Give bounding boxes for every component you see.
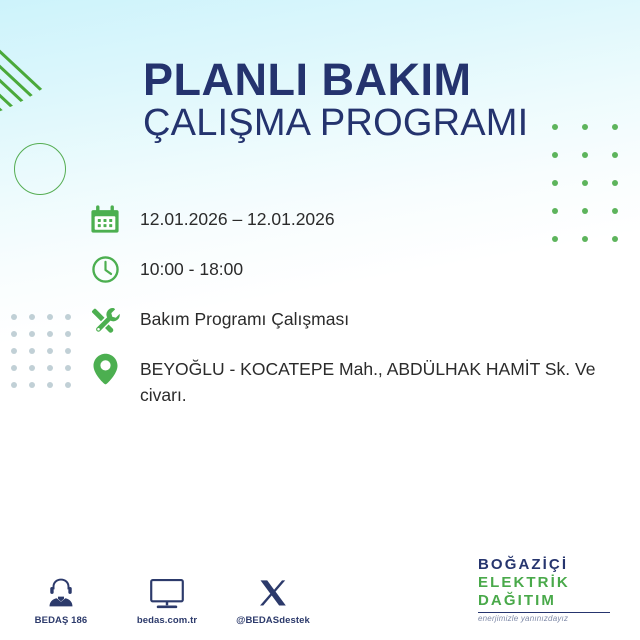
company-logo: BOĞAZİÇİ ELEKTRİK DAĞITIM enerjimizle ya…: [478, 556, 618, 623]
circle-outline-decoration: [14, 143, 66, 195]
maintenance-details-list: 12.01.2026 – 12.01.2026 10:00 - 18:00: [88, 202, 628, 425]
detail-row-work-type: Bakım Programı Çalışması: [88, 302, 628, 336]
contact-website-label: bedas.com.tr: [137, 615, 197, 626]
diagonal-stripes-decoration: [0, 0, 120, 116]
page-title: PLANLI BAKIM ÇALIŞMA PROGRAMI: [143, 57, 563, 145]
calendar-icon: [88, 202, 122, 236]
location-pin-icon: [88, 352, 122, 386]
detail-row-location: BEYOĞLU - KOCATEPE Mah., ABDÜLHAK HAMİT …: [88, 352, 628, 409]
logo-divider: [478, 612, 610, 614]
headset-support-icon: [45, 573, 77, 609]
contact-phone[interactable]: BEDAŞ 186: [22, 573, 100, 626]
planned-maintenance-poster: PLANLI BAKIM ÇALIŞMA PROGRAMI: [0, 0, 640, 640]
contact-x-twitter[interactable]: @BEDASdestek: [234, 573, 312, 626]
footer-contacts: BEDAŞ 186 bedas.com.tr @BEDASd: [22, 573, 312, 626]
contact-phone-label: BEDAŞ 186: [35, 615, 88, 626]
contact-website[interactable]: bedas.com.tr: [128, 573, 206, 626]
logo-line-bogazici: BOĞAZİÇİ: [478, 556, 618, 574]
logo-line-dagitim: DAĞITIM: [478, 592, 618, 610]
logo-tagline: enerjimizle yanınızdayız: [478, 614, 618, 623]
logo-line-elektrik: ELEKTRİK: [478, 574, 618, 592]
dot-grid-decoration-left: [11, 314, 83, 399]
tools-icon: [88, 302, 122, 336]
x-twitter-icon: [258, 573, 289, 609]
detail-value-time: 10:00 - 18:00: [140, 252, 243, 283]
detail-row-time: 10:00 - 18:00: [88, 252, 628, 286]
detail-value-date: 12.01.2026 – 12.01.2026: [140, 202, 335, 233]
clock-icon: [88, 252, 122, 286]
contact-x-twitter-label: @BEDASdestek: [236, 615, 310, 626]
title-secondary: ÇALIŞMA PROGRAMI: [143, 102, 563, 145]
detail-value-location: BEYOĞLU - KOCATEPE Mah., ABDÜLHAK HAMİT …: [140, 352, 610, 409]
title-primary: PLANLI BAKIM: [143, 57, 563, 102]
detail-value-work-type: Bakım Programı Çalışması: [140, 302, 349, 333]
detail-row-date: 12.01.2026 – 12.01.2026: [88, 202, 628, 236]
monitor-website-icon: [149, 573, 185, 609]
